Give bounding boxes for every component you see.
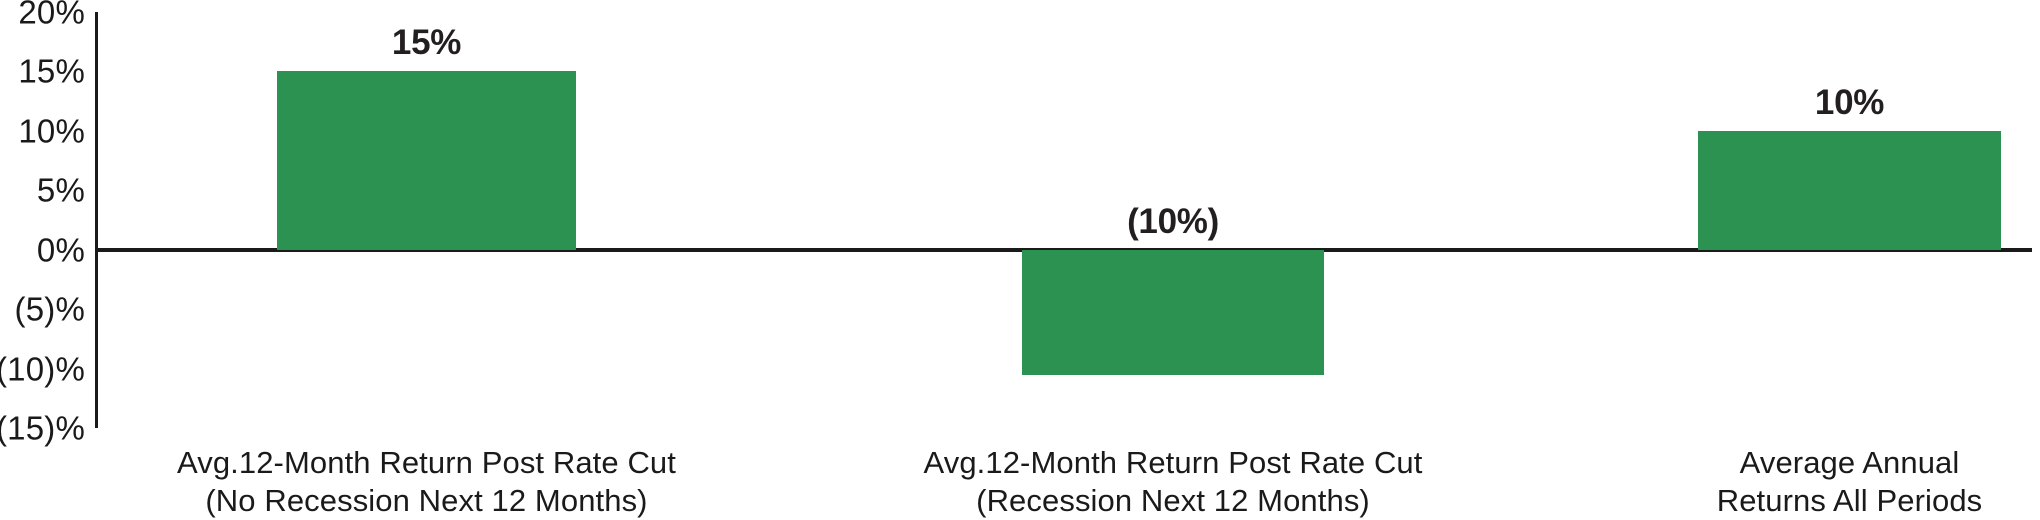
bar-value-label: 15%: [392, 23, 461, 63]
bar-value-label: 10%: [1815, 83, 1884, 123]
category-label-line-2: (Recession Next 12 Months): [924, 482, 1423, 520]
bar[interactable]: [1698, 131, 2001, 250]
x-axis-category-label: Avg.12-Month Return Post Rate Cut(No Rec…: [177, 444, 676, 520]
bar-value-label: (10%): [1127, 202, 1219, 242]
bar[interactable]: [277, 71, 576, 249]
x-axis-category-label: Average AnnualReturns All Periods: [1717, 444, 1983, 520]
category-label-line-1: Avg.12-Month Return Post Rate Cut: [924, 445, 1423, 480]
category-label-line-2: (No Recession Next 12 Months): [177, 482, 676, 520]
category-label-line-2: Returns All Periods: [1717, 482, 1983, 520]
x-axis-category-label: Avg.12-Month Return Post Rate Cut(Recess…: [924, 444, 1423, 520]
bar-chart: 20%15%10%5%0%(5)%(10)%(15)% 15%(10%)10% …: [0, 0, 2040, 520]
category-label-line-1: Avg.12-Month Return Post Rate Cut: [177, 445, 676, 480]
bar[interactable]: [1022, 250, 1324, 375]
category-label-line-1: Average Annual: [1740, 445, 1960, 480]
plot-area: 15%(10%)10%: [0, 0, 2040, 520]
